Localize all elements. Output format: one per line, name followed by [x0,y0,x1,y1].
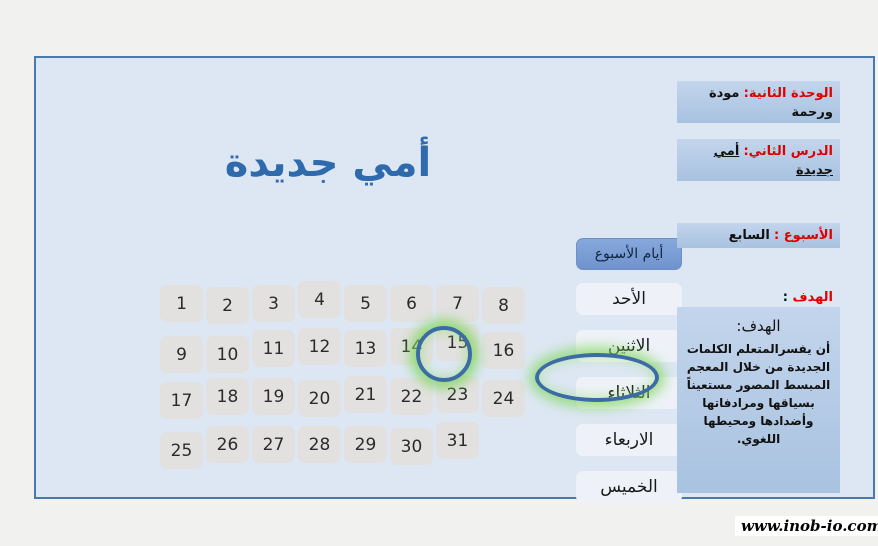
week-day-item[interactable]: الاثنين [576,330,682,362]
week-day-item[interactable]: الثلاثاء [576,377,682,409]
calendar-day-cell[interactable]: 4 [298,281,341,318]
calendar-day-cell[interactable]: 25 [160,432,203,469]
calendar-day-cell[interactable]: 24 [482,380,525,417]
calendar-day-cell[interactable]: 27 [252,426,295,463]
week-day-item[interactable]: الخميس [576,471,682,503]
calendar-day-cell[interactable]: 11 [252,330,295,367]
calendar-day-cell[interactable]: 10 [206,336,249,373]
calendar-day-cell[interactable]: 20 [298,380,341,417]
calendar-day-cell[interactable]: 9 [160,336,203,373]
lesson-panel: الدرس الثاني: أمي جديدة [677,139,840,181]
lesson-label: الدرس الثاني: [743,144,833,159]
calendar-day-cell[interactable]: 30 [390,428,433,465]
calendar-day-cell[interactable]: 26 [206,426,249,463]
week-value: السابع [729,228,770,243]
calendar-day-cell[interactable]: 8 [482,287,525,324]
calendar-day-cell[interactable]: 23 [436,376,479,413]
goal-label-colon: : [783,290,793,305]
calendar-day-cell[interactable]: 15 [436,324,479,361]
unit-panel: الوحدة الثانية: مودة ورحمة [677,81,840,123]
week-day-list: أيام الأسبوع الأحدالاثنينالثلاثاءالاربعا… [576,238,682,518]
week-days-header: أيام الأسبوع [576,238,682,270]
calendar-day-cell[interactable]: 1 [160,285,203,322]
goal-label-text: الهدف [792,290,833,305]
calendar-day-cell[interactable]: 22 [390,378,433,415]
goal-panel-body: أن يفسرالمتعلم الكلمات الجديدة من خلال ا… [686,340,831,448]
calendar-day-cell[interactable]: 31 [436,422,479,459]
calendar-day-cell[interactable]: 18 [206,378,249,415]
calendar-day-cell[interactable]: 28 [298,426,341,463]
week-day-item[interactable]: الأحد [576,283,682,315]
screenshot-stage: أمي جديدة 123456789101112131415161718192… [0,0,878,546]
week-label: الأسبوع : [774,228,833,243]
goal-panel: الهدف: أن يفسرالمتعلم الكلمات الجديدة من… [677,307,840,493]
page-title: أمي جديدة [163,140,493,186]
calendar-day-cell[interactable]: 17 [160,382,203,419]
slide-canvas: أمي جديدة 123456789101112131415161718192… [34,56,875,499]
goal-heading: الهدف : [783,290,833,305]
calendar-day-cell[interactable]: 2 [206,287,249,324]
calendar-day-cell[interactable]: 13 [344,330,387,367]
calendar-day-cell[interactable]: 14 [390,328,433,365]
week-day-item[interactable]: الاربعاء [576,424,682,456]
unit-label: الوحدة الثانية: [744,86,833,101]
calendar-day-cell[interactable]: 21 [344,376,387,413]
calendar-day-cell[interactable]: 29 [344,426,387,463]
goal-panel-heading: الهدف: [686,315,831,338]
calendar-day-cell[interactable]: 3 [252,285,295,322]
calendar-day-cell[interactable]: 19 [252,378,295,415]
calendar-day-cell[interactable]: 5 [344,285,387,322]
calendar-day-cell[interactable]: 6 [390,285,433,322]
calendar-day-cell[interactable]: 12 [298,328,341,365]
week-number-panel: الأسبوع : السابع [677,223,840,248]
site-watermark: www.inob-io.com [735,516,878,536]
calendar-day-cell[interactable]: 7 [436,285,479,322]
calendar-grid: 1234567891011121314151617181920212223242… [160,283,540,473]
calendar-day-cell[interactable]: 16 [482,332,525,369]
